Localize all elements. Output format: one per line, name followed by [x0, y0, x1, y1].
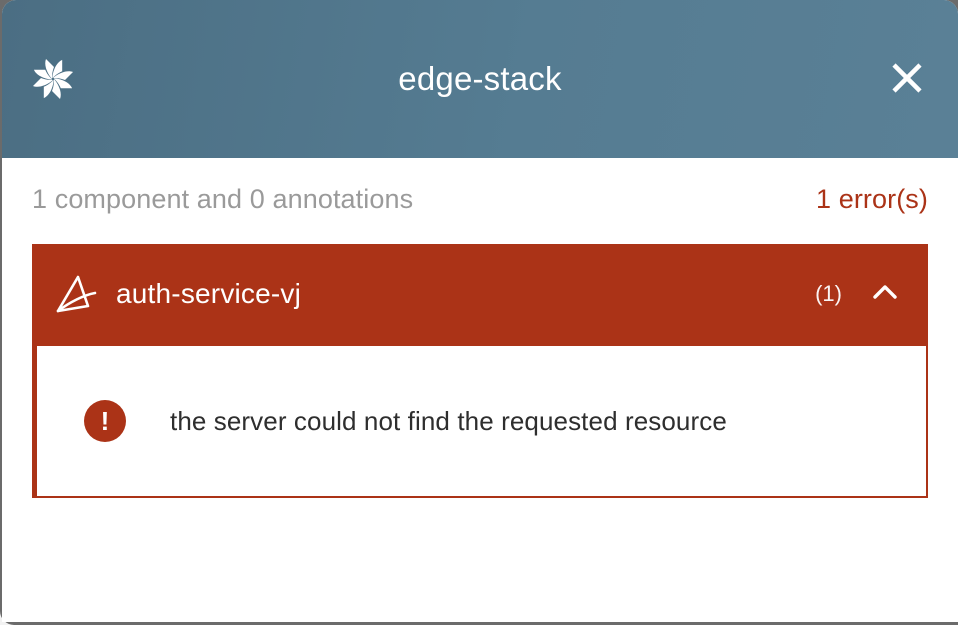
dialog-title: edge-stack	[2, 60, 958, 98]
component-header-auth-service-vj[interactable]: auth-service-vj (1)	[32, 244, 928, 344]
exclamation-icon: !	[84, 400, 126, 442]
collapse-toggle-button[interactable]	[868, 277, 902, 311]
app-root: edge-stack 1 component and 0 annotations…	[0, 0, 958, 625]
chevron-up-icon	[870, 278, 900, 311]
component-summary-label: 1 component and 0 annotations	[32, 184, 413, 215]
dialog-body: 1 component and 0 annotations 1 error(s)…	[2, 158, 958, 498]
ambassador-mark-icon	[54, 272, 98, 316]
pinwheel-logo-icon	[28, 54, 78, 104]
summary-row: 1 component and 0 annotations 1 error(s)	[32, 158, 928, 244]
dialog-header: edge-stack	[2, 0, 958, 158]
component-group: auth-service-vj (1) !	[32, 244, 928, 498]
error-message-text: the server could not find the requested …	[170, 406, 727, 437]
close-button[interactable]	[884, 56, 930, 102]
close-icon	[888, 59, 926, 100]
component-name-label: auth-service-vj	[116, 278, 301, 310]
exclamation-glyph: !	[101, 408, 110, 434]
error-count-label: 1 error(s)	[816, 184, 928, 215]
error-list-item: ! the server could not find the requeste…	[84, 400, 727, 442]
component-error-count-badge: (1)	[815, 281, 842, 307]
component-error-panel: ! the server could not find the requeste…	[32, 344, 928, 498]
edge-stack-dialog: edge-stack 1 component and 0 annotations…	[2, 0, 958, 622]
